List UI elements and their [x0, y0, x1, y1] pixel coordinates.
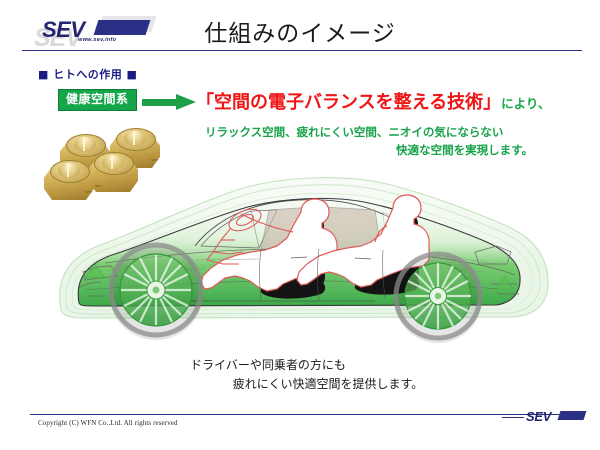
- footer-logo-bar: [558, 411, 587, 420]
- footer-sev-logo: SEV: [502, 408, 582, 426]
- part-ridge: [83, 137, 85, 151]
- headline: 「空間の電子バランスを整える技術」により、: [196, 88, 550, 114]
- footer-divider: [30, 414, 578, 415]
- callout-body-line2: 快適な空間を実現します。: [205, 142, 545, 160]
- part-cone: [124, 131, 146, 146]
- car-front-wheel: [109, 245, 203, 340]
- headline-suffix-text: により、: [501, 96, 550, 111]
- arrow-head: [176, 94, 196, 110]
- section-subtitle: ■ ヒトへの作用 ■: [38, 66, 137, 82]
- part-ridge: [133, 131, 135, 145]
- header-divider: [22, 50, 582, 51]
- page-title: 仕組みのイメージ: [0, 14, 600, 48]
- headline-quoted-text: 「空間の電子バランスを整える技術」: [196, 92, 501, 113]
- callout-body-text: リラックス空間、疲れにくい空間、ニオイの気にならない 快適な空間を実現します。: [205, 124, 545, 160]
- footer-logo-wordmark: SEV: [526, 409, 551, 424]
- arrow-shaft: [142, 99, 180, 106]
- car-rear-wheel: [394, 254, 482, 343]
- bottom-caption: ドライバーや同乗者の方にも 疲れにくい快適空間を提供します。: [0, 356, 600, 394]
- footer-logo-dash: [502, 417, 524, 418]
- green-tag-kenko-kukan-kei: 健康空間系: [58, 89, 137, 111]
- caption-line2: 疲れにくい快適空間を提供します。: [0, 375, 600, 394]
- car-illustration-svg: [45, 160, 560, 360]
- callout-body-line1: リラックス空間、疲れにくい空間、ニオイの気にならない: [205, 124, 545, 142]
- caption-line1: ドライバーや同乗者の方にも: [0, 356, 600, 375]
- part-cone: [74, 137, 96, 152]
- slide-root: SEV SEV www.sev.info 仕組みのイメージ ■ ヒトへの作用 ■…: [0, 0, 600, 450]
- copyright-text: Copyright (C) WFN Co.,Ltd. All rights re…: [38, 419, 178, 427]
- arrow-right-icon: [142, 94, 198, 110]
- car-illustration: [45, 160, 560, 360]
